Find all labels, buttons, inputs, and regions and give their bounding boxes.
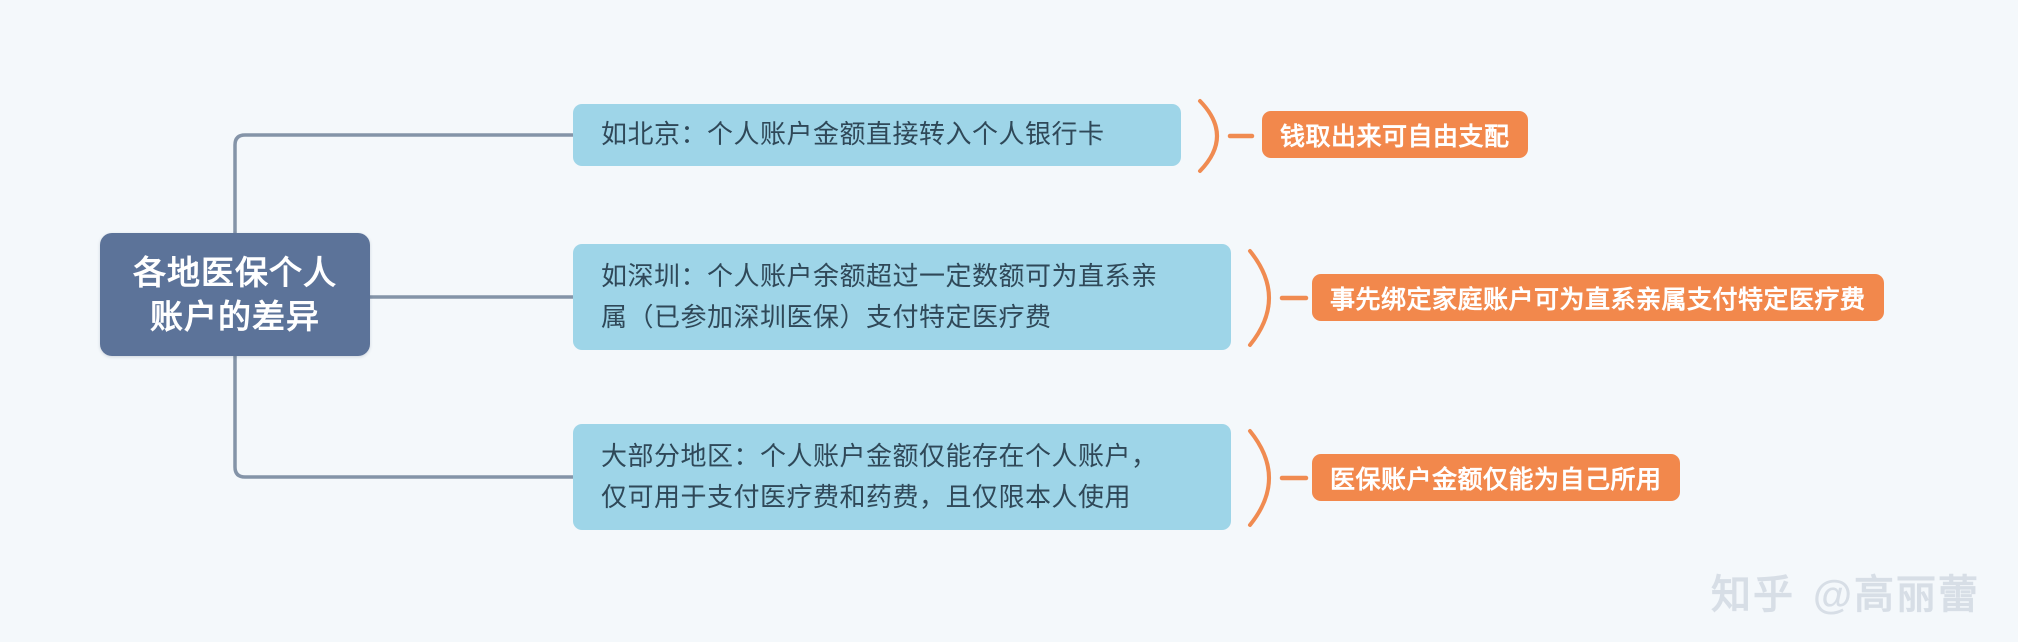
branch-box-label: 如深圳：个人账户余额超过一定数额可为直系亲 属（已参加深圳医保）支付特定医疗费 — [601, 256, 1158, 338]
root-node[interactable]: 各地医保个人 账户的差异 — [100, 233, 370, 356]
branch-box-shenzhen[interactable]: 如深圳：个人账户余额超过一定数额可为直系亲 属（已参加深圳医保）支付特定医疗费 — [573, 244, 1231, 350]
watermark-site: 知乎 — [1711, 562, 1795, 620]
badge-label: 事先绑定家庭账户可为直系亲属支付特定医疗费 — [1330, 280, 1866, 316]
watermark-handle: @高丽蕾 — [1813, 562, 1980, 620]
branch-box-beijing[interactable]: 如北京：个人账户金额直接转入个人银行卡 — [573, 104, 1181, 166]
bracket-icon-2 — [1236, 246, 1318, 350]
badge-shenzhen[interactable]: 事先绑定家庭账户可为直系亲属支付特定医疗费 — [1312, 274, 1884, 321]
mindmap-canvas: 各地医保个人 账户的差异 如北京：个人账户金额直接转入个人银行卡 钱取出来可自由… — [0, 0, 2018, 642]
branch-box-label: 大部分地区：个人账户金额仅能存在个人账户， 仅可用于支付医疗费和药费，且仅限本人… — [601, 436, 1158, 518]
connector-to-branch-1 — [235, 135, 573, 233]
root-node-label: 各地医保个人 账户的差异 — [133, 251, 337, 338]
connector-to-branch-3 — [235, 356, 573, 477]
badge-beijing[interactable]: 钱取出来可自由支配 — [1262, 111, 1528, 158]
bracket-icon-3 — [1236, 426, 1318, 530]
badge-most-regions[interactable]: 医保账户金额仅能为自己所用 — [1312, 454, 1680, 501]
branch-box-label: 如北京：个人账户金额直接转入个人银行卡 — [601, 114, 1105, 155]
branch-box-most-regions[interactable]: 大部分地区：个人账户金额仅能存在个人账户， 仅可用于支付医疗费和药费，且仅限本人… — [573, 424, 1231, 530]
bracket-icon-1 — [1186, 96, 1266, 176]
watermark: 知乎 @高丽蕾 — [1711, 562, 1980, 620]
badge-label: 钱取出来可自由支配 — [1280, 117, 1510, 153]
badge-label: 医保账户金额仅能为自己所用 — [1330, 460, 1662, 496]
